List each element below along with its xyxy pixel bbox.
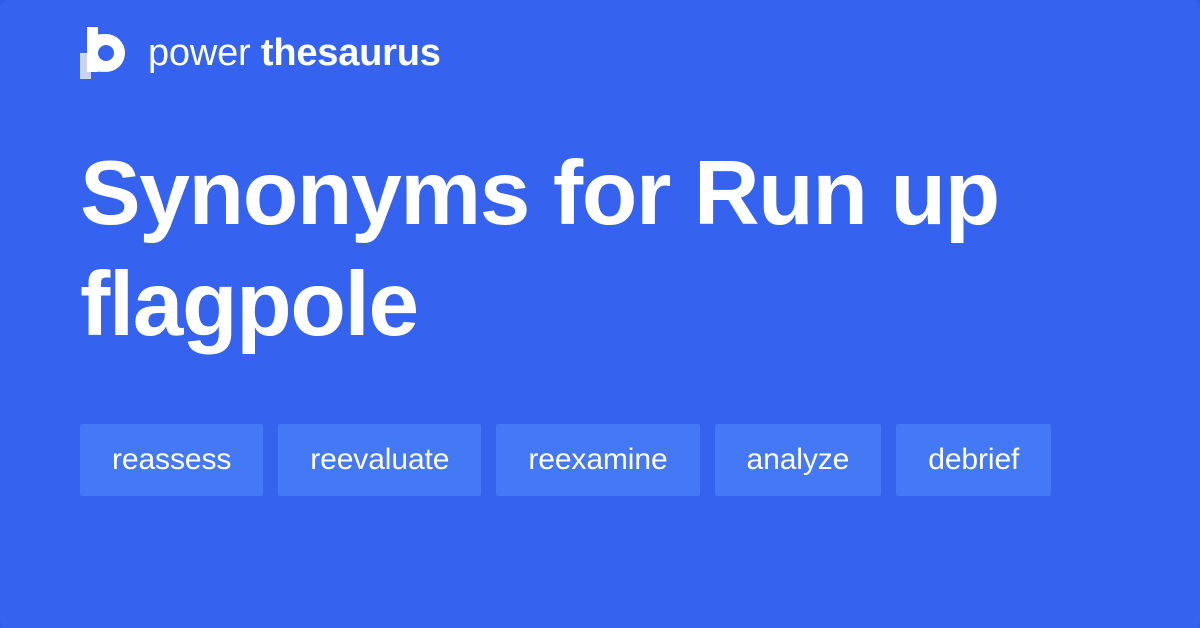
synonym-chip[interactable]: debrief [896,424,1051,496]
brand-logo[interactable]: power thesaurus [80,27,441,79]
synonym-chip-list: reassess reevaluate reexamine analyze de… [80,424,1090,496]
synonym-card: power thesaurus Synonyms for Run up flag… [0,0,1200,628]
brand-name: power thesaurus [148,34,441,72]
synonym-chip[interactable]: analyze [715,424,882,496]
power-thesaurus-b-logo-icon [80,27,126,79]
synonym-chip[interactable]: reassess [80,424,263,496]
synonym-chip[interactable]: reevaluate [278,424,481,496]
brand-name-regular: power [148,32,261,74]
brand-name-bold: thesaurus [261,32,441,74]
page-title: Synonyms for Run up flagpole [80,138,1060,360]
synonym-chip[interactable]: reexamine [496,424,699,496]
